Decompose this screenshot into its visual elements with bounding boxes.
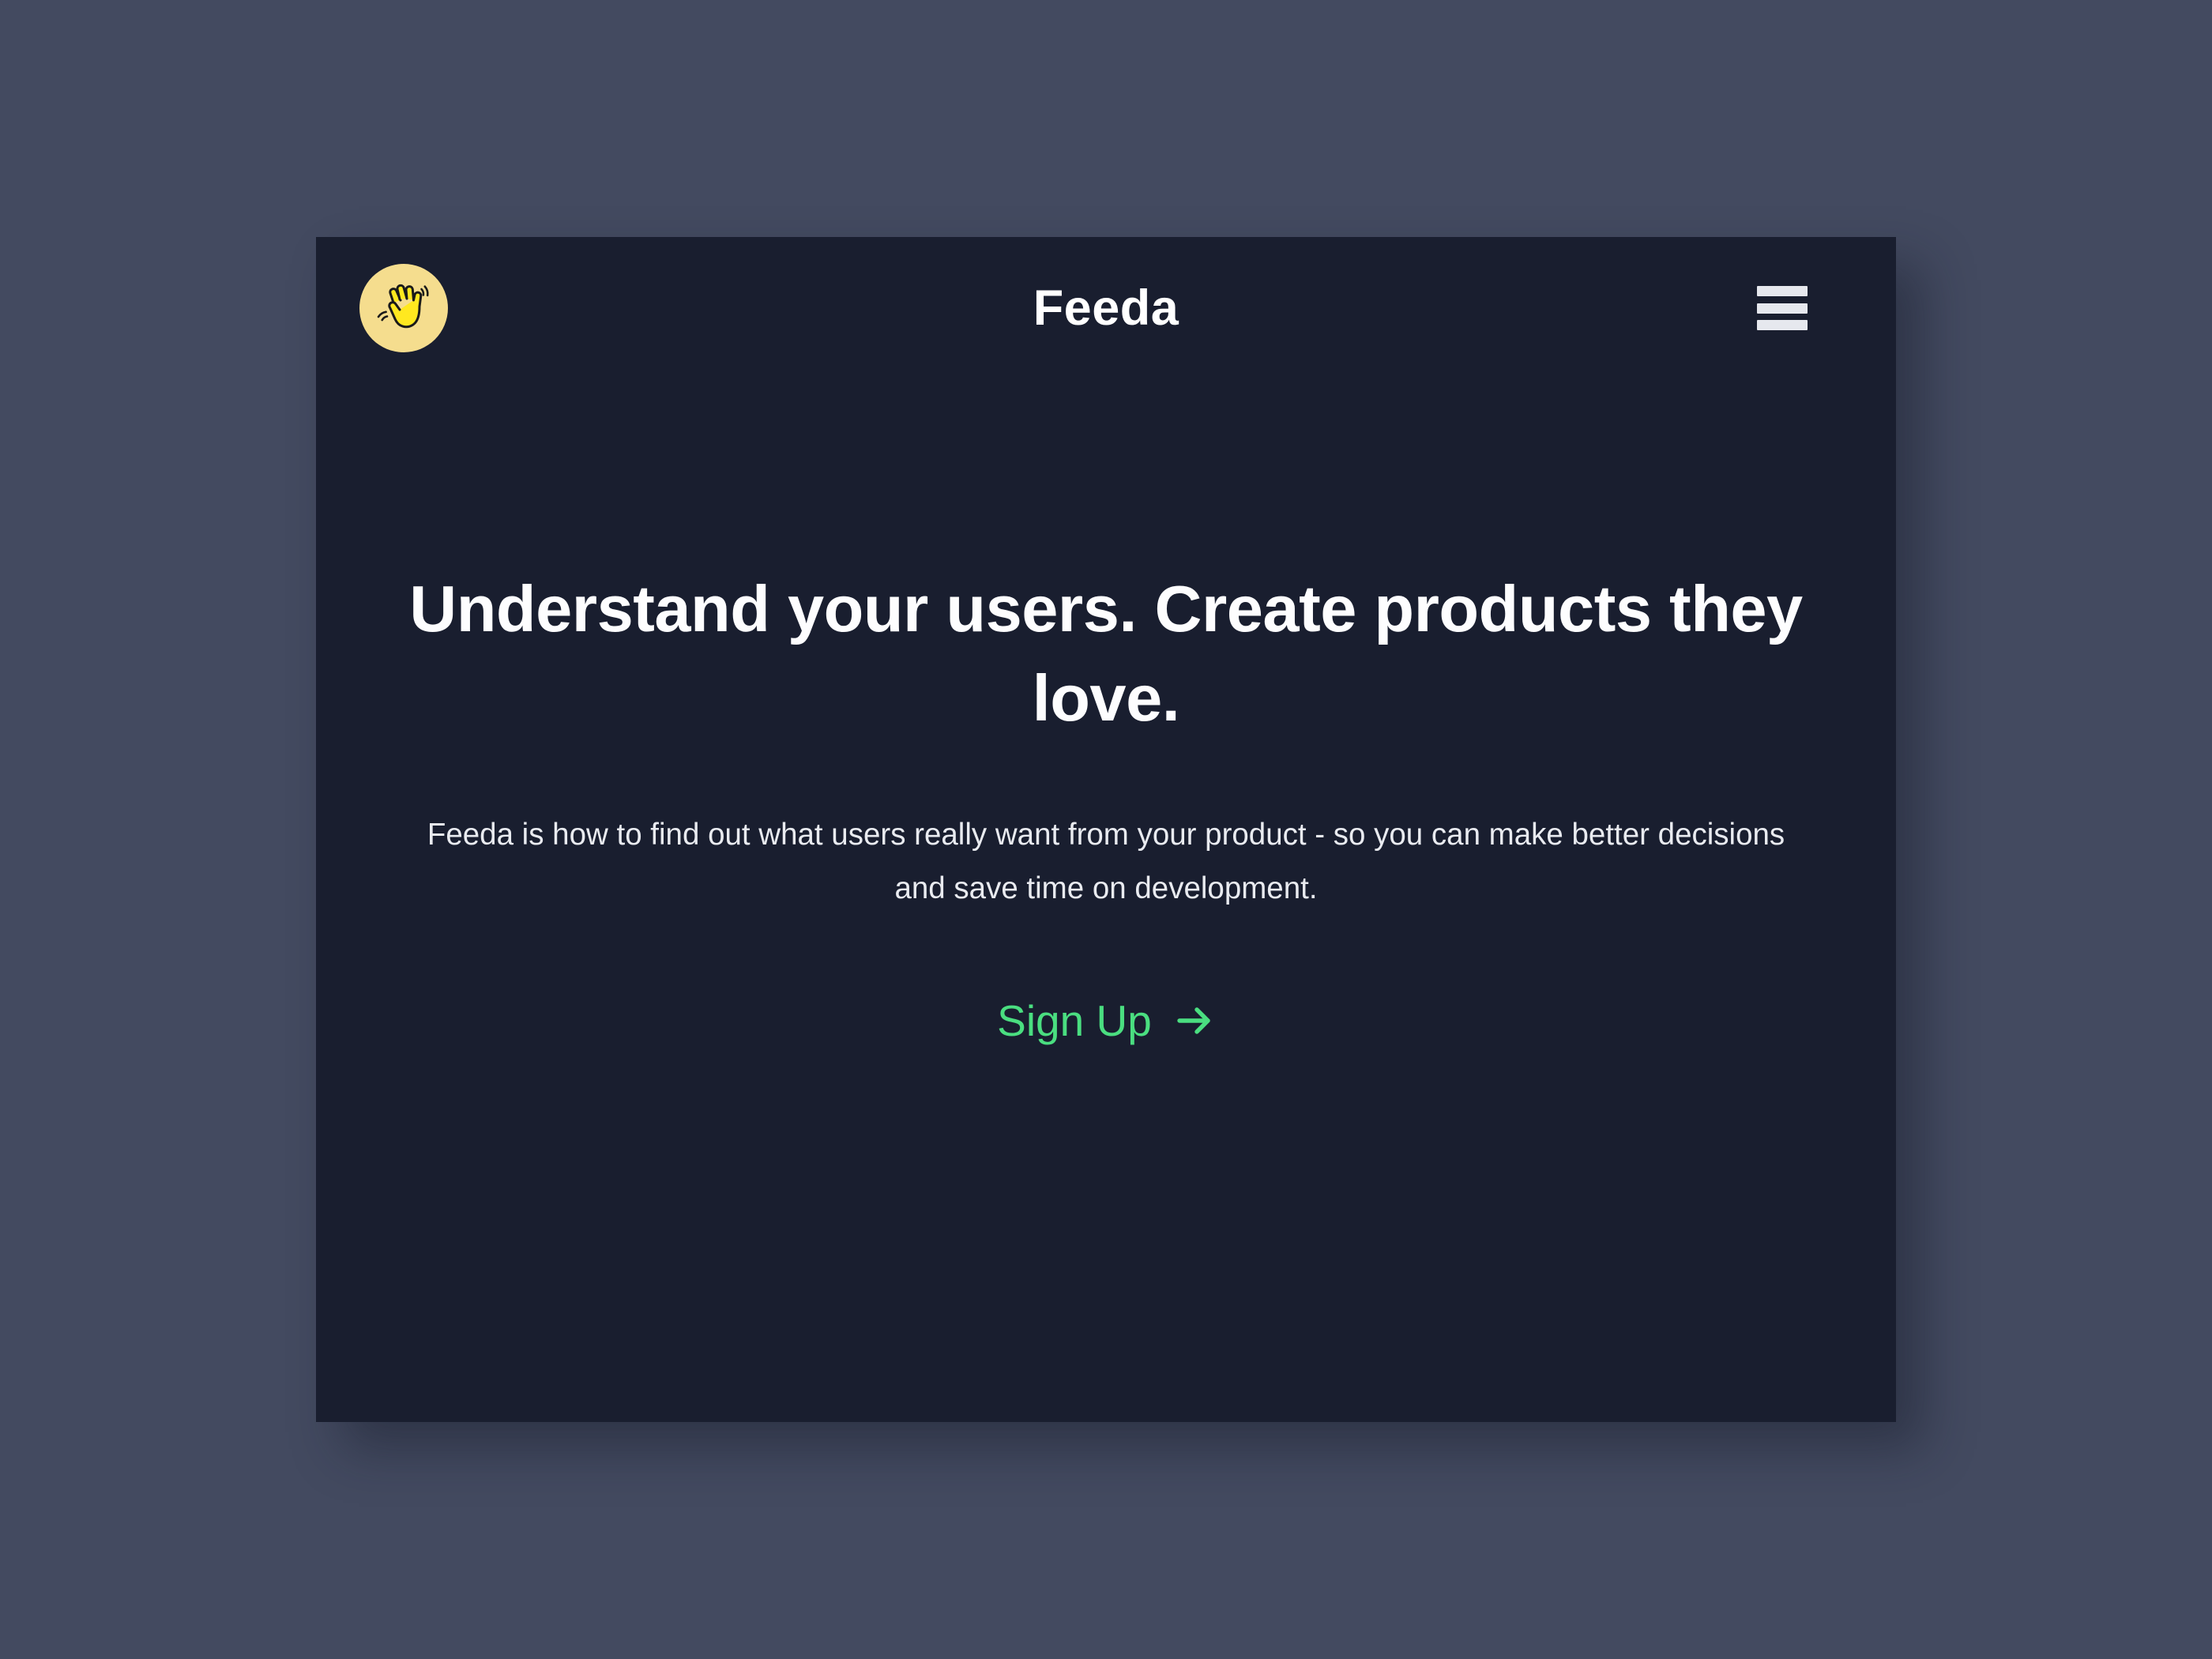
cta-container: Sign Up [411,916,1801,1043]
app-header: Feeda [316,237,1896,379]
hero-subtitle: Feeda is how to find out what users real… [423,743,1789,916]
hamburger-menu-button[interactable] [1757,286,1808,330]
hero-card: Feeda Understand your users. Create prod… [316,237,1896,1422]
hamburger-bar-1 [1757,286,1808,296]
hero-section: Understand your users. Create products t… [316,379,1896,1422]
arrow-right-icon [1174,1000,1215,1041]
sign-up-link[interactable]: Sign Up [997,999,1215,1043]
app-title: Feeda [316,284,1896,333]
hamburger-bar-3 [1757,320,1808,330]
sign-up-label: Sign Up [997,999,1152,1043]
hero-headline: Understand your users. Create products t… [399,379,1813,743]
hamburger-bar-2 [1757,303,1808,314]
